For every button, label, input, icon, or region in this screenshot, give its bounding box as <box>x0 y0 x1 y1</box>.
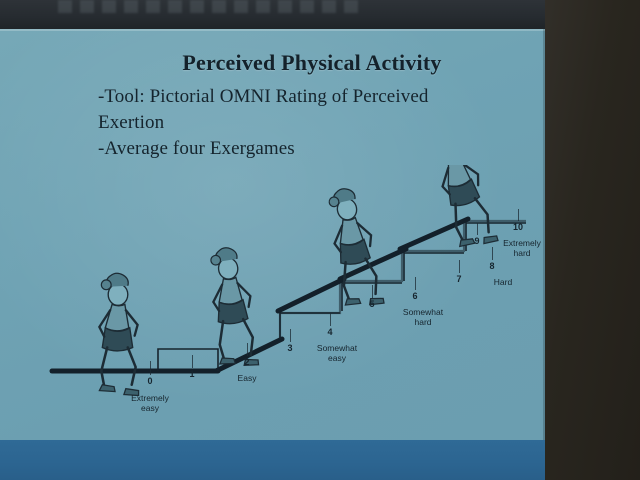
tick-value-4: 4 <box>317 327 343 337</box>
tick-stem-0 <box>150 361 151 375</box>
slide-top-edge <box>0 29 545 31</box>
bullet-line-3: -Average four Exergames <box>98 136 538 162</box>
tick-value-5: 5 <box>359 299 385 309</box>
tick-stem-9 <box>477 223 478 235</box>
tick-stem-5 <box>372 285 373 298</box>
tick-stem-4 <box>330 313 331 326</box>
tick-stem-2 <box>247 343 248 356</box>
tick-value-0: 0 <box>137 376 163 386</box>
tick-label-2: Easy <box>212 373 282 383</box>
tick-stem-1 <box>192 355 193 368</box>
bullet-line-1: -Tool: Pictorial OMNI Rating of Perceive… <box>98 84 538 110</box>
slide-footer-band: Carnegie Mellon PORTUGAL FCT <box>0 440 545 480</box>
omni-scale-figure: 0 Extremelyeasy 1 2 Easy 3 4 Somewhateas… <box>40 165 540 430</box>
tick-value-10: 10 <box>505 222 531 232</box>
tick-value-8: 8 <box>479 261 505 271</box>
tick-stem-3 <box>290 329 291 342</box>
tick-stem-7 <box>459 260 460 273</box>
room-wall-right <box>543 0 640 480</box>
slide-title: Perceived Physical Activity <box>142 50 482 76</box>
tick-label-10: Extremelyhard <box>487 238 557 258</box>
projected-slide-photo: Perceived Physical Activity -Tool: Picto… <box>0 0 640 480</box>
tick-label-0: Extremelyeasy <box>115 393 185 413</box>
room-wall-top <box>0 0 545 29</box>
tick-stem-10 <box>518 209 519 221</box>
tick-value-1: 1 <box>179 369 205 379</box>
cutoff-title-text <box>58 0 358 13</box>
tick-label-4: Somewhateasy <box>302 343 372 363</box>
tick-stem-6 <box>415 277 416 290</box>
tick-value-6: 6 <box>402 291 428 301</box>
tick-label-6: Somewhathard <box>388 307 458 327</box>
omni-tick-row: 0 Extremelyeasy 1 2 Easy 3 4 Somewhateas… <box>40 165 540 430</box>
tick-value-3: 3 <box>277 343 303 353</box>
slide-right-edge <box>543 29 545 440</box>
slide-bullets: -Tool: Pictorial OMNI Rating of Perceive… <box>98 84 538 162</box>
tick-label-8: Hard <box>468 277 538 287</box>
bullet-line-2: Exertion <box>98 110 538 136</box>
tick-value-2: 2 <box>234 357 260 367</box>
